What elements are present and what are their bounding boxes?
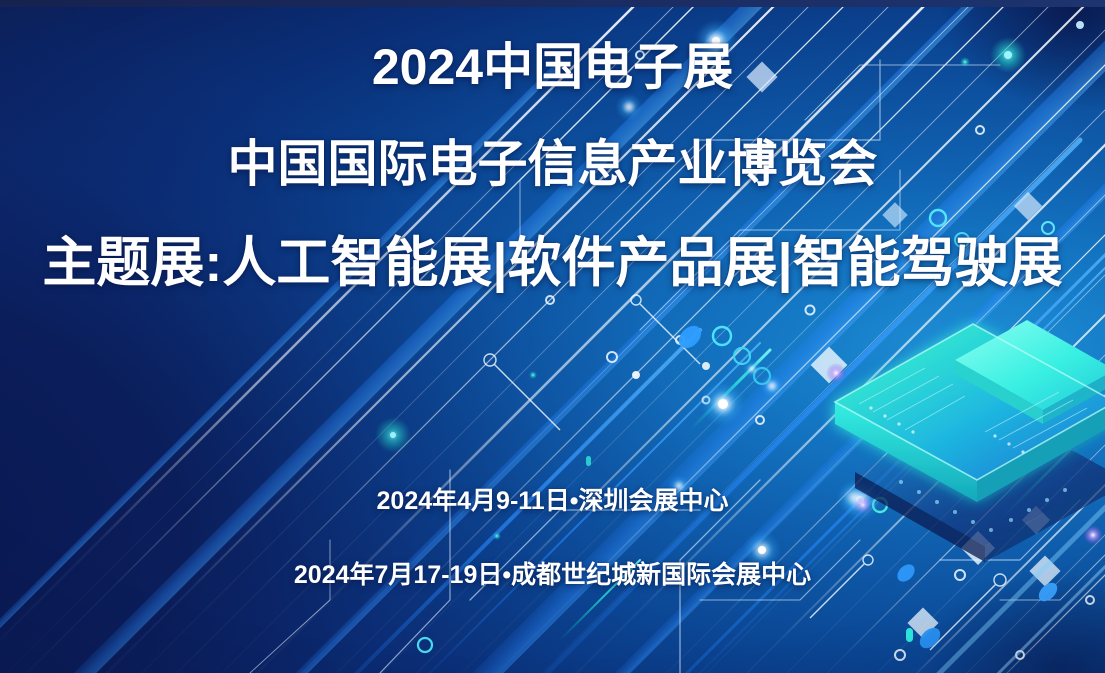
title-line-2: 中国国际电子信息产业博览会 bbox=[0, 133, 1105, 195]
session-date-chengdu: 2024年7月17-19日•成都世纪城新国际会展中心 bbox=[0, 558, 1105, 592]
title-line-3-themes: 主题展:人工智能展|软件产品展|智能驾驶展 bbox=[0, 230, 1105, 296]
title-line-1: 2024中国电子展 bbox=[0, 36, 1105, 98]
poster-canvas: 2024中国电子展 中国国际电子信息产业博览会 主题展:人工智能展|软件产品展|… bbox=[0, 0, 1105, 673]
top-accent-strip bbox=[0, 0, 1105, 7]
session-date-shenzhen: 2024年4月9-11日•深圳会展中心 bbox=[0, 484, 1105, 518]
